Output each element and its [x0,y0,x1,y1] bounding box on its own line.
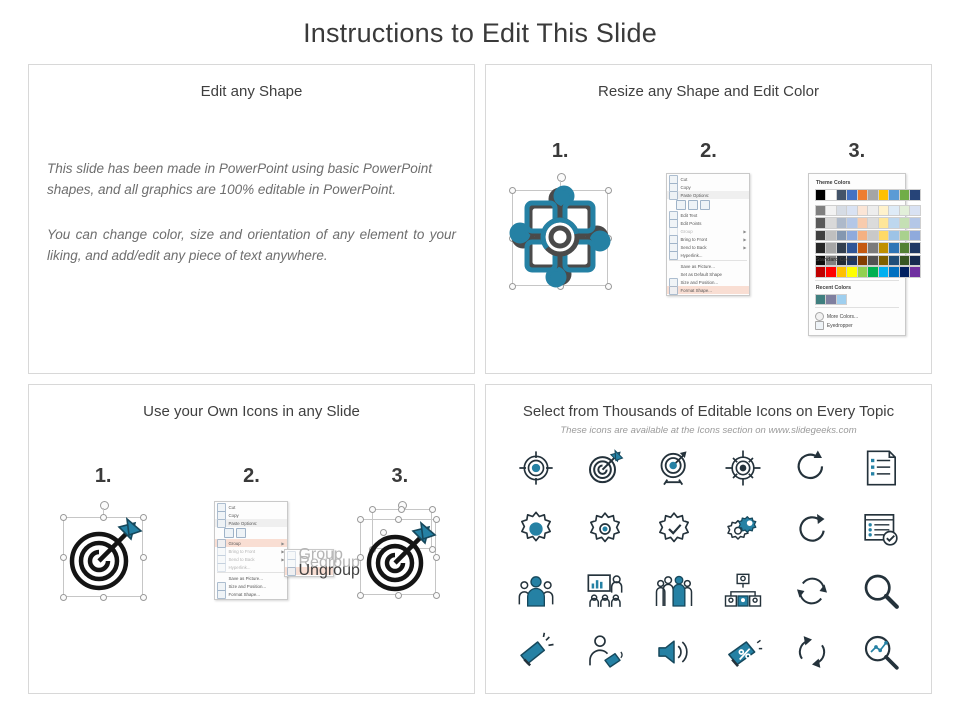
divider [815,307,899,308]
menu-item-label: Save as Picture... [228,576,284,581]
paste-icon [217,519,226,528]
menu-item-label: Size and Position... [228,584,284,589]
dartboard-arrow-ungrouped-icon[interactable] [350,501,450,605]
paste-keep-formatting-icon[interactable] [676,200,686,210]
org-chart-icon[interactable] [723,571,763,611]
panel-own-icons-title: Use your Own Icons in any Slide [29,403,474,420]
menu-item-save-as-picture[interactable]: Save as Picture... [215,574,287,582]
recent-colors-heading: Recent Colors [816,285,899,291]
resize-figure-context-menu: Cut Copy Paste Options: [634,173,782,296]
ungroup-icon [287,567,296,576]
hyperlink-icon [217,563,226,572]
menu-item-cut[interactable]: Cut [215,503,287,511]
format-shape-icon [669,286,678,295]
swatch-gap [815,202,919,204]
menu-item-copy[interactable]: Copy [215,511,287,519]
people-crowd-icon[interactable] [654,571,694,611]
panel-own-icons: Use your Own Icons in any Slide 1. 2. 3. [28,384,475,694]
resize-step-2: 2. [634,140,782,163]
paste-options-row [215,527,287,539]
chevron-right-icon: ▶ [743,229,746,234]
resize-figures: Cut Copy Paste Options: [486,173,931,336]
own-icons-figure-ungrouped [326,501,474,605]
dartboard-selection-wrapper [57,501,149,601]
palette-icon [815,312,824,321]
standard-colors-grid[interactable] [815,266,899,276]
menu-item-label: Bring to Front [228,549,279,554]
panel-icon-library: Select from Thousands of Editable Icons … [485,384,932,694]
page-title: Instructions to Edit This Slide [0,18,960,49]
menu-separator [669,260,747,261]
chevron-right-icon: ▶ [743,245,746,250]
paste-keep-formatting-icon[interactable] [224,528,234,538]
panel-resize-shape: Resize any Shape and Edit Color 1. 2. 3. [485,64,932,374]
menu-item-label: Hyperlink... [228,565,284,570]
gear-filled-icon[interactable] [516,509,556,549]
own-icons-step-1: 1. [29,465,177,488]
paste-picture-icon[interactable] [688,200,698,210]
crosshair-scope-icon[interactable] [723,448,763,488]
menu-item-label: Edit Text [680,213,746,218]
menu-item-set-as-default-shape[interactable]: Set as Default Shape [667,270,749,278]
menu-item-label: Set as Default Shape [680,272,746,277]
menu-item-label: Cut [228,505,284,510]
menu-item-label: Format Shape... [228,592,284,597]
theme-colors-grid[interactable] [815,189,899,254]
menu-item-label: Format Shape... [680,288,746,293]
theme-color-swatch[interactable] [909,230,921,242]
own-icons-figures: Cut Copy Paste Options: [29,501,474,605]
menu-item-hyperlink[interactable]: Hyperlink... [667,251,749,259]
megaphone-discount-icon[interactable] [723,632,763,672]
menu-item-edit-points[interactable]: Edit Points [667,219,749,227]
own-icons-steps: 1. 2. 3. [29,465,474,488]
panel-grid: Edit any Shape This slide has been made … [28,64,932,694]
dartboard-arrow-icon[interactable] [57,501,149,601]
divider [815,280,899,281]
resize-step-3: 3. [783,140,931,163]
menu-item-label: Edit Points [680,221,746,226]
checklist-document-icon[interactable] [861,448,901,488]
recycle-arrows-icon[interactable] [792,632,832,672]
panel-edit-shape: Edit any Shape This slide has been made … [28,64,475,374]
theme-colors-heading: Theme Colors [816,180,899,186]
menu-item-save-as-picture[interactable]: Save as Picture... [667,262,749,270]
menu-item-label: Paste Options: [680,193,746,198]
theme-color-swatch[interactable] [909,205,921,217]
hyperlink-icon [669,251,678,260]
slide-canvas: Instructions to Edit This Slide Edit any… [0,0,960,720]
eyedropper-item[interactable]: Eyedropper [815,321,899,330]
menu-item-paste-options[interactable]: Paste Options: [667,191,749,199]
recent-color-swatch[interactable] [836,294,848,306]
refresh-circle-icon[interactable] [792,509,832,549]
checklist-approved-icon[interactable] [861,509,901,549]
menu-separator [217,572,285,573]
panel-icon-library-subtitle: These icons are available at the Icons s… [486,425,931,436]
ungrouped-selection-wrapper [350,501,450,605]
own-icons-figure-grouped [29,501,177,601]
menu-item-cut[interactable]: Cut [667,175,749,183]
menu-item-bring-to-front[interactable]: Bring to Front ▶ [667,235,749,243]
shape-context-menu[interactable]: Cut Copy Paste Options: [666,173,750,296]
menu-item-copy[interactable]: Copy [667,183,749,191]
menu-item-edit-text[interactable]: Edit Text [667,211,749,219]
sync-arrows-icon[interactable] [792,571,832,611]
format-shape-icon [217,590,226,599]
shape-selection-wrapper [504,173,616,291]
edit-shape-paragraph-1: This slide has been made in PowerPoint u… [47,158,456,200]
group-menu-wrapper: Cut Copy Paste Options: [214,501,288,600]
dartboard-arrow-icon[interactable] [585,448,625,488]
icon-library-grid [502,437,915,683]
person-announce-icon[interactable] [585,632,625,672]
menu-item-label: Group [680,229,741,234]
menu-item-label: Hyperlink... [680,253,746,258]
menu-item-format-shape[interactable]: Format Shape... [667,286,749,294]
submenu-item-ungroup[interactable]: Ungroup [285,567,333,575]
gear-check-icon[interactable] [654,509,694,549]
target-stand-icon[interactable] [654,448,694,488]
panel-icon-library-title: Select from Thousands of Editable Icons … [486,403,931,420]
menu-item-label: Size and Position... [680,280,746,285]
menu-item-label: Save as Picture... [680,264,746,269]
menu-item-label: Bring to Front [680,237,741,242]
menu-item-send-to-back[interactable]: Send to Back ▶ [215,555,287,563]
menu-item-size-and-position[interactable]: Size and Position... [215,582,287,590]
menu-item-label: Send to Back [228,557,279,562]
resize-figure-color-picker: Theme Colors Standard Colors Recent Colo… [783,173,931,336]
eyedropper-label: Eyedropper [827,323,853,329]
menu-item-label: Copy [680,185,746,190]
edit-shape-paragraph-2: You can change color, size and orientati… [47,224,456,266]
quadrant-ring-shape[interactable] [504,173,616,291]
group-submenu[interactable]: Group Regroup Ungroup [284,549,334,577]
menu-item-group[interactable]: Group ▶ [215,539,287,547]
own-icons-figure-group-menu: Cut Copy Paste Options: [177,501,325,600]
menu-item-format-shape[interactable]: Format Shape... [215,590,287,598]
menu-item-paste-options[interactable]: Paste Options: [215,519,287,527]
menu-item-hyperlink[interactable]: Hyperlink... [215,563,287,571]
menu-item-send-to-back[interactable]: Send to Back ▶ [667,243,749,251]
panel-resize-shape-title: Resize any Shape and Edit Color [486,83,931,100]
resize-figure-selected-shape [486,173,634,291]
color-picker-panel[interactable]: Theme Colors Standard Colors Recent Colo… [808,173,906,336]
own-icons-step-2: 2. [177,465,325,488]
more-colors-label: More Colors... [827,314,858,320]
magnifier-icon[interactable] [861,571,901,611]
paste-text-only-icon[interactable] [700,200,710,210]
menu-item-label: Send to Back [680,245,741,250]
theme-color-swatch[interactable] [909,242,921,254]
presentation-audience-icon[interactable] [585,571,625,611]
own-icons-step-3: 3. [326,465,474,488]
menu-item-label: Copy [228,513,284,518]
theme-color-swatch[interactable] [909,217,921,229]
resize-step-1: 1. [486,140,634,163]
chevron-right-icon: ▶ [743,237,746,242]
paste-icon [669,191,678,200]
recent-colors-grid[interactable] [815,294,899,304]
gear-outline-icon[interactable] [585,509,625,549]
menu-item-label: Cut [680,177,746,182]
magnifier-analytics-icon[interactable] [861,632,901,672]
resize-steps: 1. 2. 3. [486,140,931,163]
team-group-icon[interactable] [516,571,556,611]
gears-pair-icon[interactable] [723,509,763,549]
menu-item-label: Group [228,541,279,546]
standard-color-swatch[interactable] [909,266,921,278]
menu-item-label: Paste Options: [228,521,284,526]
speaker-icon[interactable] [654,632,694,672]
menu-item-bring-to-front[interactable]: Bring to Front ▶ [215,547,287,555]
refresh-clockwise-icon[interactable] [792,448,832,488]
panel-edit-shape-title: Edit any Shape [29,83,474,100]
theme-color-swatch[interactable] [909,189,921,201]
paste-picture-icon[interactable] [236,528,246,538]
paste-options-row [667,199,749,211]
group-context-menu[interactable]: Cut Copy Paste Options: [214,501,288,600]
menu-item-group[interactable]: Group ▶ [667,227,749,235]
chevron-right-icon: ▶ [281,541,284,546]
more-colors-item[interactable]: More Colors... [815,312,899,321]
menu-item-size-and-position[interactable]: Size and Position... [667,278,749,286]
megaphone-icon[interactable] [516,632,556,672]
eyedropper-icon [815,321,824,330]
crosshair-target-icon[interactable] [516,448,556,488]
theme-color-swatch[interactable] [909,255,921,267]
